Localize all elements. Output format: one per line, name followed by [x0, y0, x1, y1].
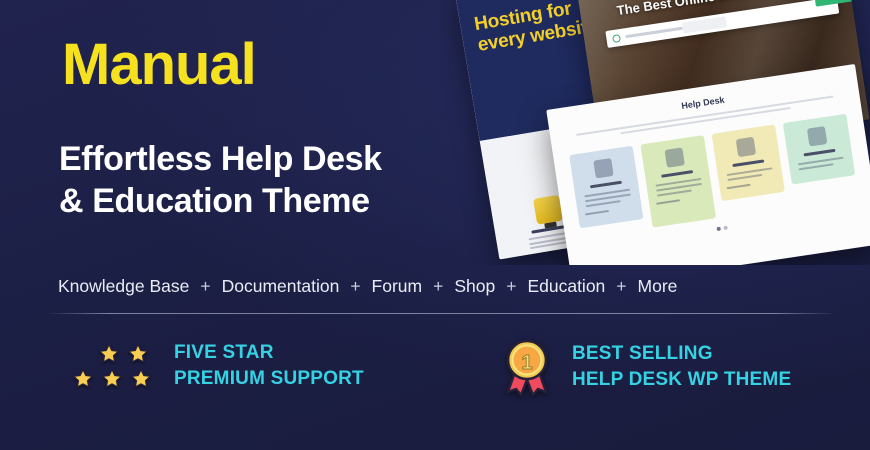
- feature-item-education: Education: [527, 276, 605, 297]
- tagline: Effortless Help Desk & Education Theme: [59, 138, 382, 222]
- five-star-badge: FIVE STAR PREMIUM SUPPORT: [62, 340, 364, 392]
- card-faq: [712, 124, 785, 201]
- feature-list: Knowledge Base + Documentation + Forum +…: [58, 276, 820, 297]
- carousel-dot-1: [716, 227, 721, 232]
- documentation-icon: [664, 147, 684, 167]
- five-star-badge-text: FIVE STAR PREMIUM SUPPORT: [174, 340, 364, 392]
- five-star-line-1: FIVE STAR: [174, 340, 364, 366]
- best-selling-badge: 1 BEST SELLING HELP DESK WP THEME: [496, 338, 791, 396]
- card-forum: [783, 114, 855, 185]
- best-selling-badge-text: BEST SELLING HELP DESK WP THEME: [572, 341, 791, 393]
- star-icon: [127, 343, 149, 365]
- badge-row: FIVE STAR PREMIUM SUPPORT 1 BEST SELLING…: [0, 336, 870, 436]
- feature-separator: +: [433, 276, 443, 297]
- feature-separator: +: [506, 276, 516, 297]
- knowledge-base-icon: [593, 158, 613, 178]
- brand-title: Manual: [62, 36, 256, 94]
- feature-separator: +: [200, 276, 210, 297]
- best-selling-line-2: HELP DESK WP THEME: [572, 367, 791, 393]
- star-icon: [98, 343, 120, 365]
- five-star-line-2: PREMIUM SUPPORT: [174, 366, 364, 392]
- server-icon: [533, 195, 563, 225]
- screenshot-collage: Hosting for every website Pick your host…: [440, 0, 870, 265]
- horizontal-divider: [46, 313, 836, 314]
- promo-banner: Hosting for every website Pick your host…: [0, 0, 870, 450]
- tagline-line-1: Effortless Help Desk: [59, 138, 382, 180]
- medal-number: 1: [521, 352, 532, 374]
- search-placeholder-text: [625, 27, 683, 39]
- feature-item-documentation: Documentation: [222, 276, 340, 297]
- card-knowledge-base: [569, 146, 643, 229]
- feature-item-more: More: [638, 276, 678, 297]
- best-selling-line-1: BEST SELLING: [572, 341, 791, 367]
- star-icon: [72, 368, 94, 390]
- five-stars-icon: [62, 343, 162, 390]
- category-select: [682, 16, 727, 33]
- medal-svg: 1: [501, 338, 553, 396]
- card-documentation: [640, 135, 716, 228]
- carousel-dot-2: [723, 226, 728, 231]
- feature-item-shop: Shop: [454, 276, 495, 297]
- feature-item-forum: Forum: [372, 276, 423, 297]
- feature-item-knowledge-base: Knowledge Base: [58, 276, 189, 297]
- star-icon: [101, 368, 123, 390]
- feature-separator: +: [616, 276, 626, 297]
- feature-separator: +: [350, 276, 360, 297]
- tagline-line-2: & Education Theme: [59, 180, 382, 222]
- search-icon: [612, 34, 621, 43]
- forum-icon: [807, 126, 827, 146]
- faq-icon: [736, 137, 756, 157]
- star-icon: [130, 368, 152, 390]
- award-medal-icon: 1: [496, 338, 558, 396]
